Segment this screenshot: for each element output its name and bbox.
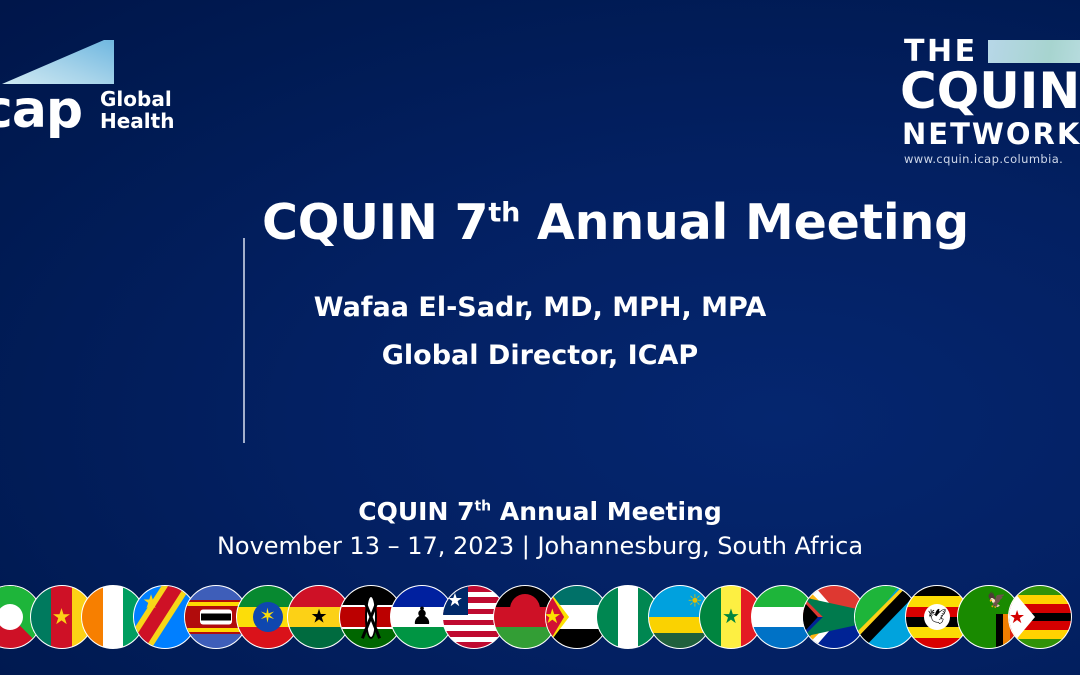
footer-meeting-title: CQUIN 7th Annual Meeting — [0, 497, 1080, 527]
speaker-role: Global Director, ICAP — [0, 340, 1080, 371]
footer-title-prefix: CQUIN 7 — [358, 497, 474, 526]
footer-date-location: November 13 – 17, 2023 | Johannesburg, S… — [0, 532, 1080, 561]
icap-tagline-line1: Global — [100, 88, 174, 110]
icap-tagline-line2: Health — [100, 110, 174, 132]
speaker-name: Wafaa El-Sadr, MD, MPH, MPA — [0, 292, 1080, 323]
country-flag-strip: ★ ★ ✶ ★ — [0, 585, 1080, 675]
icap-tagline: Global Health — [100, 88, 174, 133]
cquin-logo-network: NETWORK — [902, 120, 1080, 149]
title-block: CQUIN 7th Annual Meeting — [262, 196, 902, 251]
slide-footer: CQUIN 7th Annual Meeting November 13 – 1… — [0, 497, 1080, 561]
main-title-prefix: CQUIN 7 — [262, 194, 488, 251]
cquin-logo-accent-bar — [988, 40, 1080, 63]
footer-title-superscript: th — [474, 499, 491, 515]
cquin-logo-wordmark: CQUIN — [900, 66, 1080, 116]
main-title-suffix: Annual Meeting — [520, 194, 969, 251]
main-title-superscript: th — [488, 198, 520, 229]
flag-zimbabwe: ★ — [1008, 585, 1072, 649]
presentation-slide: cap Global Health THE CQUIN NETWORK www.… — [0, 0, 1080, 675]
icap-global-health-logo: cap Global Health — [0, 36, 188, 146]
icap-wordmark: cap — [0, 84, 82, 136]
footer-title-suffix: Annual Meeting — [491, 497, 722, 526]
page-title: CQUIN 7th Annual Meeting — [262, 196, 902, 251]
cquin-network-logo: THE CQUIN NETWORK www.cquin.icap.columbi… — [874, 34, 1080, 164]
cquin-logo-url: www.cquin.icap.columbia. — [904, 152, 1063, 166]
